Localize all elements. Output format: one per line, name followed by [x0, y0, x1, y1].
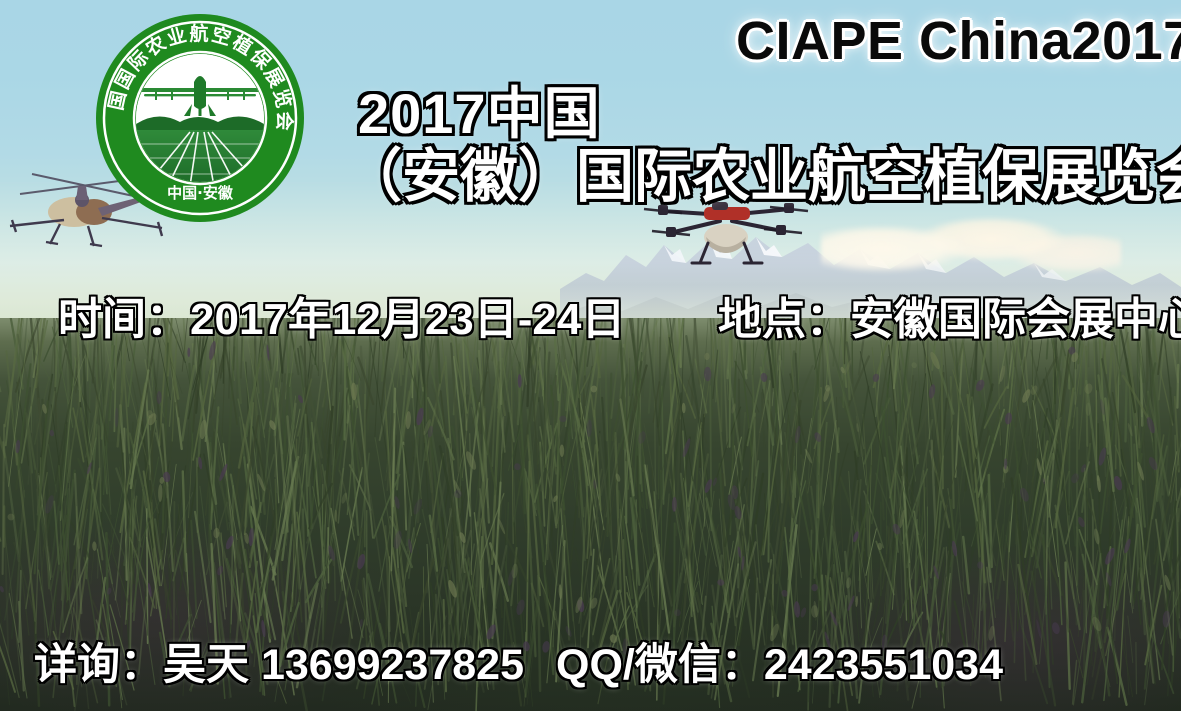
event-poster: 中国国际农业航空植保展览会 中国·安徽 CIAPE China2017 2017…	[0, 0, 1181, 711]
contact-qq: QQ/微信：2423551034	[556, 644, 1003, 687]
rotor-mast	[76, 186, 88, 200]
event-venue: 地点：安徽国际会展中心	[718, 298, 1181, 342]
poster-title-line1: 2017中国	[358, 86, 601, 142]
logo-bottom-text: 中国·安徽	[167, 184, 234, 202]
poster-header-english: CIAPE China2017	[736, 14, 1181, 68]
ciape-logo: 中国国际农业航空植保展览会 中国·安徽	[94, 12, 306, 224]
event-date: 时间：2017年12月23日-24日	[58, 298, 625, 342]
contact-phone: 详询：吴天 13699237825	[34, 644, 524, 687]
poster-title-line2: （安徽）国际农业航空植保展览会	[344, 148, 1181, 206]
